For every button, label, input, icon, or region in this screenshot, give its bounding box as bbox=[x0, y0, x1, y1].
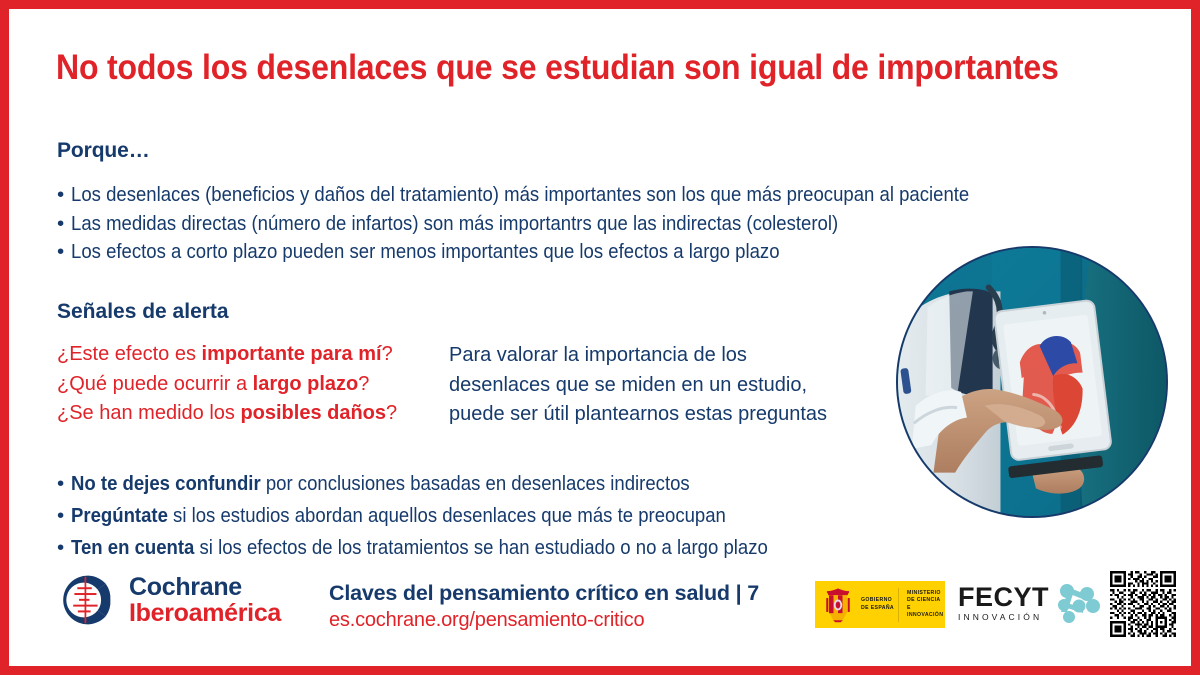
question-lead: ¿Se han medido los bbox=[57, 402, 240, 424]
bullet-icon: • bbox=[57, 532, 71, 564]
tips-bullet-list: •No te dejes confundir por conclusiones … bbox=[57, 468, 841, 564]
why-bullet-list: •Los desenlaces (beneficios y daños del … bbox=[57, 181, 1064, 267]
question-emphasis: importante para mí bbox=[202, 343, 382, 365]
bullet-icon: • bbox=[57, 210, 71, 239]
gobierno-de-espana-logo: GOBIERNODE ESPAÑA MINISTERIODE CIENCIAE … bbox=[815, 581, 945, 628]
fecyt-tagline: INNOVACIÓN bbox=[958, 613, 1049, 622]
list-item: •Las medidas directas (número de infarto… bbox=[57, 210, 1064, 239]
question-tail: ? bbox=[386, 402, 397, 424]
question-tail: ? bbox=[358, 373, 369, 395]
alert-question: ¿Se han medido los posibles daños? bbox=[57, 399, 397, 429]
spain-coat-of-arms-icon bbox=[824, 587, 852, 623]
qr-code-icon bbox=[1110, 571, 1176, 637]
alert-question: ¿Qué puede ocurrir a largo plazo? bbox=[57, 370, 397, 400]
explanation-line: Para valorar la importancia de los bbox=[449, 341, 889, 371]
question-lead: ¿Qué puede ocurrir a bbox=[57, 373, 253, 395]
list-item: •No te dejes confundir por conclusiones … bbox=[57, 468, 841, 500]
fecyt-wordmark: FECYT INNOVACIÓN bbox=[958, 584, 1049, 622]
tip-rest: si los estudios abordan aquellos desenla… bbox=[168, 504, 726, 527]
qr-code[interactable] bbox=[1110, 571, 1176, 637]
tip-emphasis: Pregúntate bbox=[71, 504, 168, 527]
list-item-text: Los efectos a corto plazo pueden ser men… bbox=[71, 238, 780, 267]
alerts-heading: Señales de alerta bbox=[57, 300, 229, 324]
doctor-tablet-photo bbox=[896, 246, 1168, 518]
bullet-icon: • bbox=[57, 181, 71, 210]
gov-divider bbox=[898, 588, 899, 622]
cochrane-logo: Cochrane Iberoamérica bbox=[57, 571, 281, 629]
list-item: •Pregúntate si los estudios abordan aque… bbox=[57, 500, 841, 532]
list-item: •Los efectos a corto plazo pueden ser me… bbox=[57, 238, 1064, 267]
cochrane-word-line1: Cochrane bbox=[129, 574, 281, 600]
question-emphasis: posibles daños bbox=[240, 402, 386, 424]
bullet-icon: • bbox=[57, 468, 71, 500]
fecyt-logo: FECYT INNOVACIÓN bbox=[958, 582, 1101, 624]
gobierno-de-espana-text: GOBIERNODE ESPAÑA bbox=[861, 597, 894, 611]
cochrane-wordmark: Cochrane Iberoamérica bbox=[129, 574, 281, 626]
series-caption: Claves del pensamiento crítico en salud … bbox=[329, 579, 759, 634]
tip-emphasis: Ten en cuenta bbox=[71, 536, 194, 559]
cochrane-logo-icon bbox=[57, 571, 115, 629]
question-lead: ¿Este efecto es bbox=[57, 343, 202, 365]
alert-question: ¿Este efecto es importante para mí? bbox=[57, 340, 397, 370]
list-item-text: Pregúntate si los estudios abordan aquel… bbox=[71, 500, 726, 532]
tip-rest: si los efectos de los tratamientos se ha… bbox=[194, 536, 767, 559]
list-item-text: Ten en cuenta si los efectos de los trat… bbox=[71, 532, 768, 564]
bullet-icon: • bbox=[57, 238, 71, 267]
list-item: •Ten en cuenta si los efectos de los tra… bbox=[57, 532, 841, 564]
cochrane-word-line2: Iberoamérica bbox=[129, 600, 281, 626]
page-title: No todos los desenlaces que se estudian … bbox=[56, 47, 1063, 89]
caption-title: Claves del pensamiento crítico en salud … bbox=[329, 579, 759, 607]
fecyt-name: FECYT bbox=[958, 584, 1049, 611]
footer: Cochrane Iberoamérica Claves del pensami… bbox=[9, 565, 1191, 657]
alert-questions: ¿Este efecto es importante para mí? ¿Qué… bbox=[57, 340, 397, 429]
fecyt-molecule-icon bbox=[1055, 582, 1101, 624]
list-item-text: Los desenlaces (beneficios y daños del t… bbox=[71, 181, 969, 210]
explanation-line: desenlaces que se miden en un estudio, bbox=[449, 371, 889, 401]
question-emphasis: largo plazo bbox=[253, 373, 359, 395]
tip-rest: por conclusiones basadas en desenlaces i… bbox=[261, 472, 690, 495]
bullet-icon: • bbox=[57, 500, 71, 532]
caption-url[interactable]: es.cochrane.org/pensamiento-critico bbox=[329, 607, 759, 633]
alerts-explanation: Para valorar la importancia de los desen… bbox=[449, 341, 889, 430]
list-item-text: Las medidas directas (número de infartos… bbox=[71, 210, 838, 239]
list-item-text: No te dejes confundir por conclusiones b… bbox=[71, 468, 690, 500]
list-item: •Los desenlaces (beneficios y daños del … bbox=[57, 181, 1064, 210]
photo-illustration bbox=[898, 248, 1166, 516]
infographic-poster: No todos los desenlaces que se estudian … bbox=[0, 0, 1200, 675]
why-heading: Porque… bbox=[57, 139, 150, 163]
explanation-line: puede ser útil plantearnos estas pregunt… bbox=[449, 400, 889, 430]
ministerio-text: MINISTERIODE CIENCIAE INNOVACIÓN bbox=[907, 590, 945, 619]
tip-emphasis: No te dejes confundir bbox=[71, 472, 261, 495]
question-tail: ? bbox=[382, 343, 393, 365]
